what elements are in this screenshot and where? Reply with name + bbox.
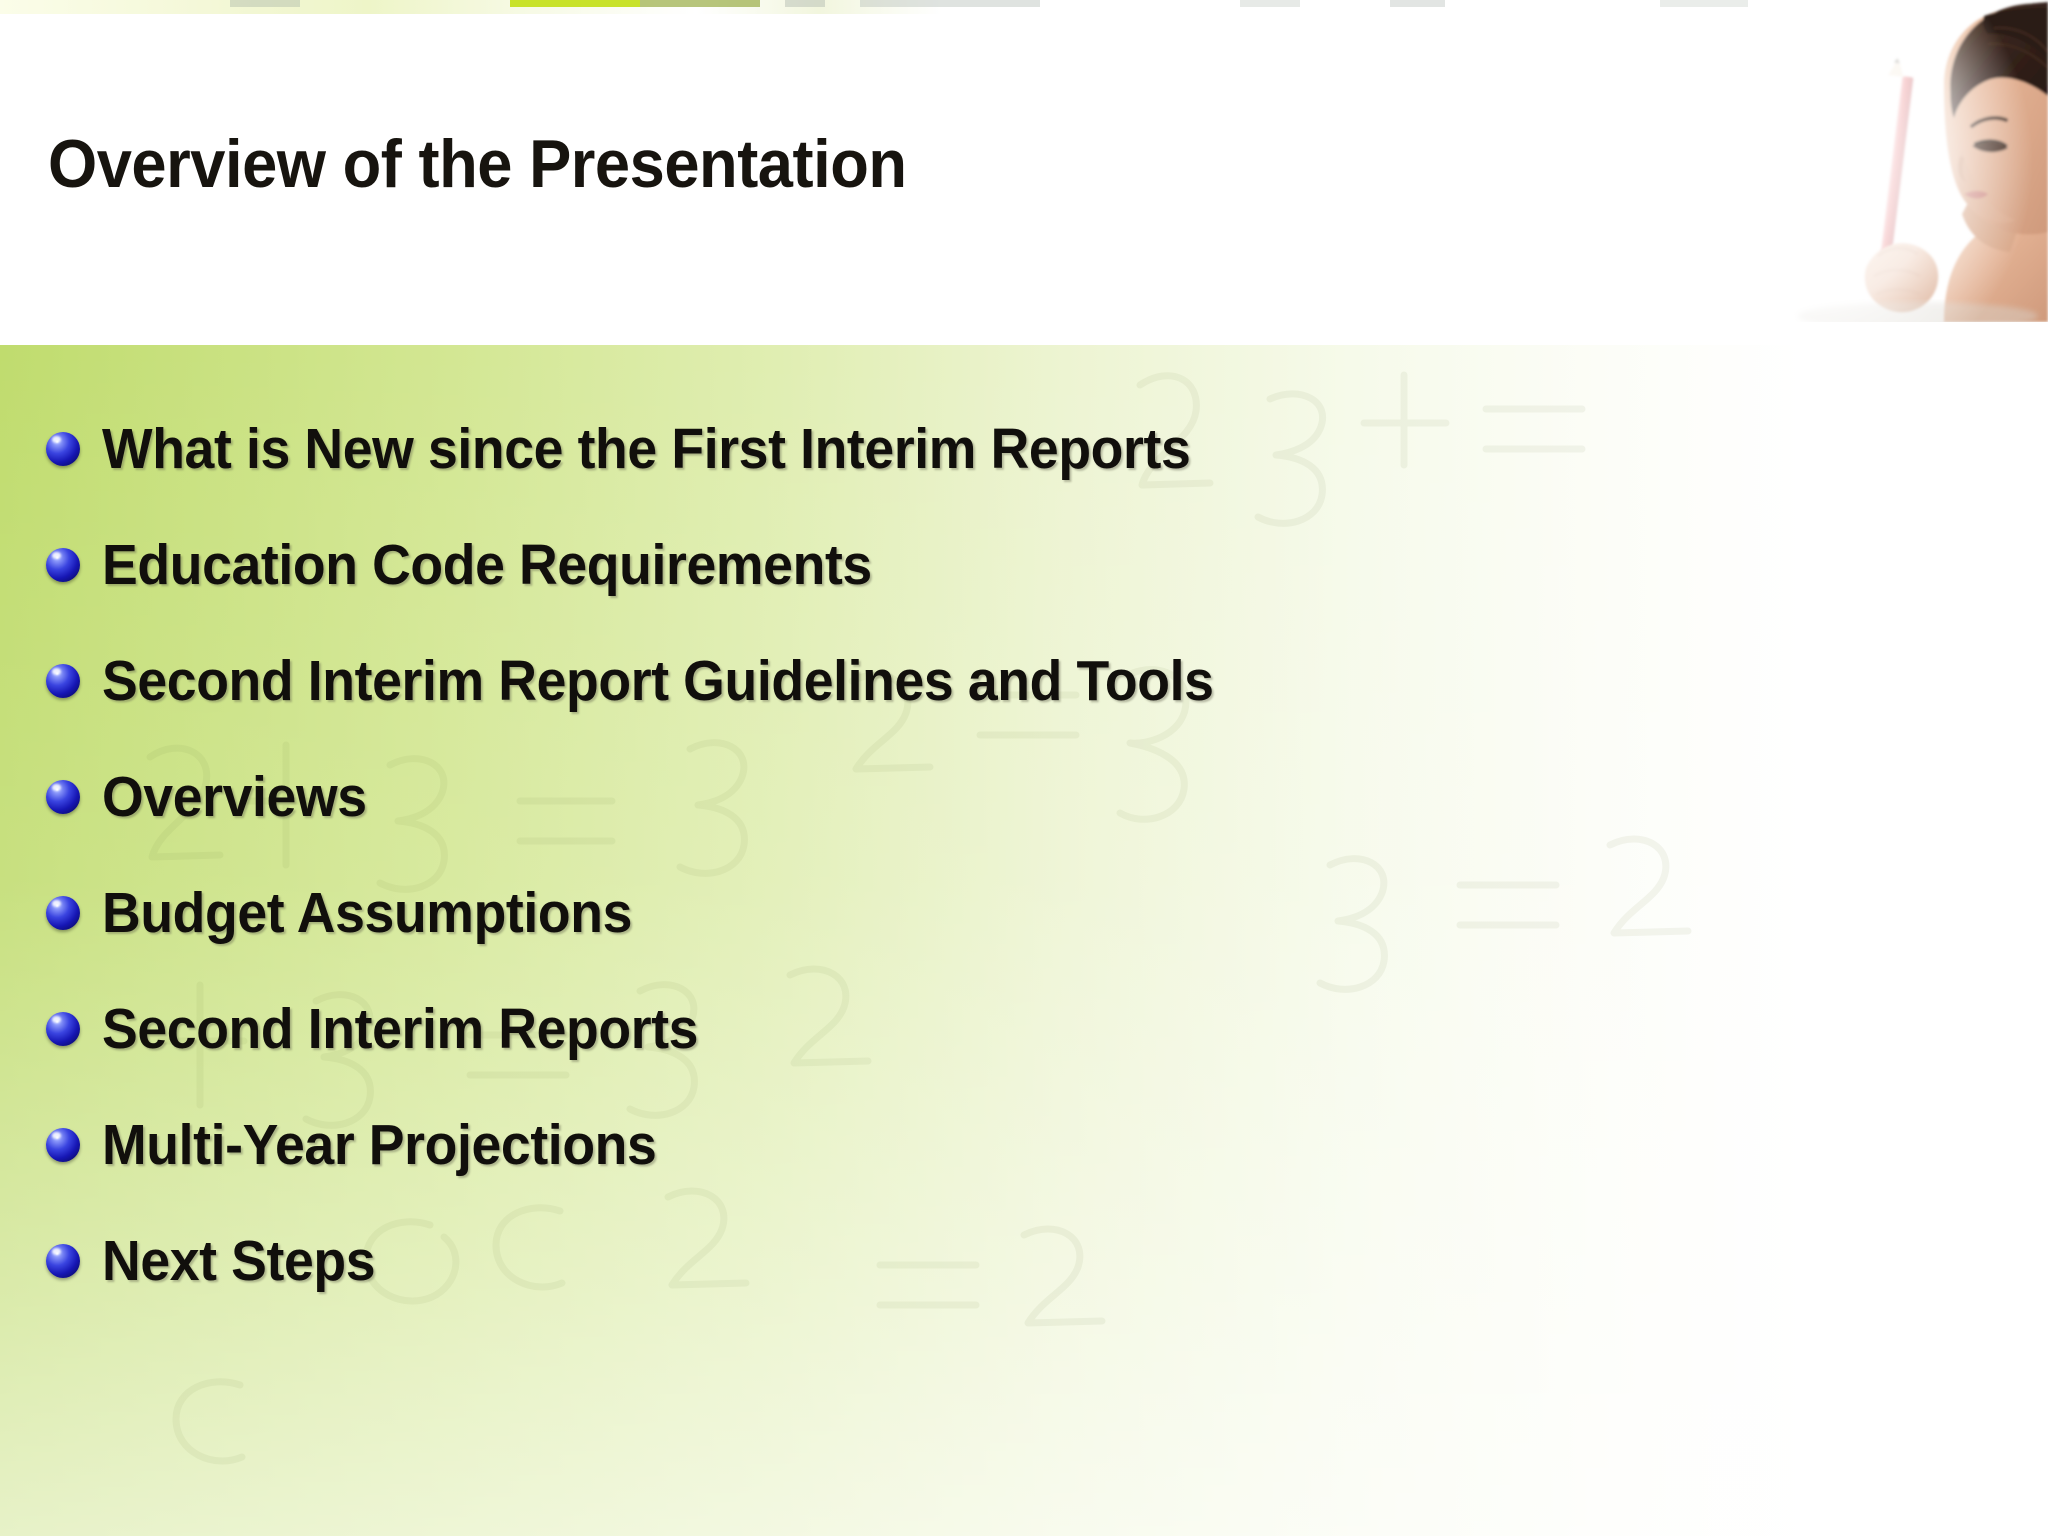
bullet-label: Education Code Requirements xyxy=(102,537,872,594)
bullet-label: Budget Assumptions xyxy=(102,885,632,942)
blue-sphere-bullet-icon xyxy=(46,432,80,466)
bullet-list: What is New since the First Interim Repo… xyxy=(0,345,2048,1319)
blue-sphere-bullet-icon xyxy=(46,780,80,814)
band-chip xyxy=(230,0,300,7)
bullet-label: What is New since the First Interim Repo… xyxy=(102,421,1190,478)
top-decorative-band xyxy=(0,0,2048,14)
blue-sphere-bullet-icon xyxy=(46,1244,80,1278)
blue-sphere-bullet-icon xyxy=(46,896,80,930)
band-chip xyxy=(785,0,825,7)
band-chip xyxy=(1660,0,1750,7)
band-chip xyxy=(1390,0,1445,7)
list-item[interactable]: What is New since the First Interim Repo… xyxy=(0,391,2048,507)
bullet-label: Multi-Year Projections xyxy=(102,1117,656,1174)
blue-sphere-bullet-icon xyxy=(46,1012,80,1046)
presentation-slide: Overview of the Presentation xyxy=(0,0,2048,1536)
page-title: Overview of the Presentation xyxy=(48,130,907,198)
list-item[interactable]: Multi-Year Projections xyxy=(0,1087,2048,1203)
bullet-label: Second Interim Report Guidelines and Too… xyxy=(102,653,1214,710)
blue-sphere-bullet-icon xyxy=(46,664,80,698)
list-item[interactable]: Second Interim Report Guidelines and Too… xyxy=(0,623,2048,739)
slide-body: What is New since the First Interim Repo… xyxy=(0,345,2048,1536)
list-item[interactable]: Overviews xyxy=(0,739,2048,855)
list-item[interactable]: Education Code Requirements xyxy=(0,507,2048,623)
blue-sphere-bullet-icon xyxy=(46,548,80,582)
slide-header: Overview of the Presentation xyxy=(0,14,2048,345)
bullet-label: Second Interim Reports xyxy=(102,1001,698,1058)
band-chip xyxy=(860,0,1040,7)
band-chip-accent xyxy=(510,0,640,7)
band-chip xyxy=(1240,0,1300,7)
bullet-label: Overviews xyxy=(102,769,367,826)
girl-writing-photo xyxy=(1748,0,2048,322)
list-item[interactable]: Budget Assumptions xyxy=(0,855,2048,971)
list-item[interactable]: Next Steps xyxy=(0,1203,2048,1319)
list-item[interactable]: Second Interim Reports xyxy=(0,971,2048,1087)
bullet-label: Next Steps xyxy=(102,1233,375,1290)
blue-sphere-bullet-icon xyxy=(46,1128,80,1162)
band-chip xyxy=(640,0,760,7)
